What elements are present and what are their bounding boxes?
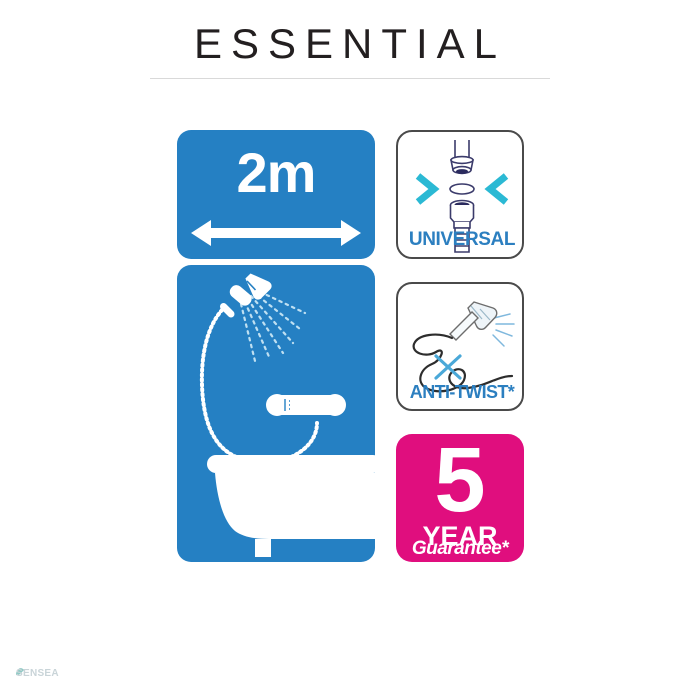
infographic-page: ESSENTIAL 2m [0,0,700,700]
guarantee-word: Guarantee* [396,538,524,560]
shower-bath-scene-panel [177,265,375,562]
badge-anti-twist-label: ANTI-TWIST* [398,381,524,403]
flexible-hose-icon [202,310,317,463]
hose-length-panel: 2m [177,130,375,259]
guarantee-number: 5 [396,434,524,532]
cross-out-icon [436,356,460,378]
bath-mixer-tap-icon [266,394,346,416]
hose-length-value: 2m [177,138,375,208]
shower-handset-icon [450,302,497,340]
bathtub-icon [207,455,375,557]
badge-universal: UNIVERSAL [396,130,524,259]
badge-universal-label: UNIVERSAL [398,229,524,251]
badge-anti-twist: ANTI-TWIST* [396,282,524,411]
title-divider [150,78,550,79]
page-title: ESSENTIAL [0,20,700,68]
right-column: UNIVERSAL [396,130,524,562]
washer-icon [450,184,474,194]
left-column: 2m [177,130,375,562]
header: ESSENTIAL [0,0,700,90]
double-headed-arrow-icon [189,216,363,250]
guarantee-badge: 5 YEAR Guarantee* [396,434,524,562]
shower-bath-scene-art [177,265,375,562]
spray-lines-icon [493,314,514,346]
brand-name: SENSEA [16,668,59,679]
